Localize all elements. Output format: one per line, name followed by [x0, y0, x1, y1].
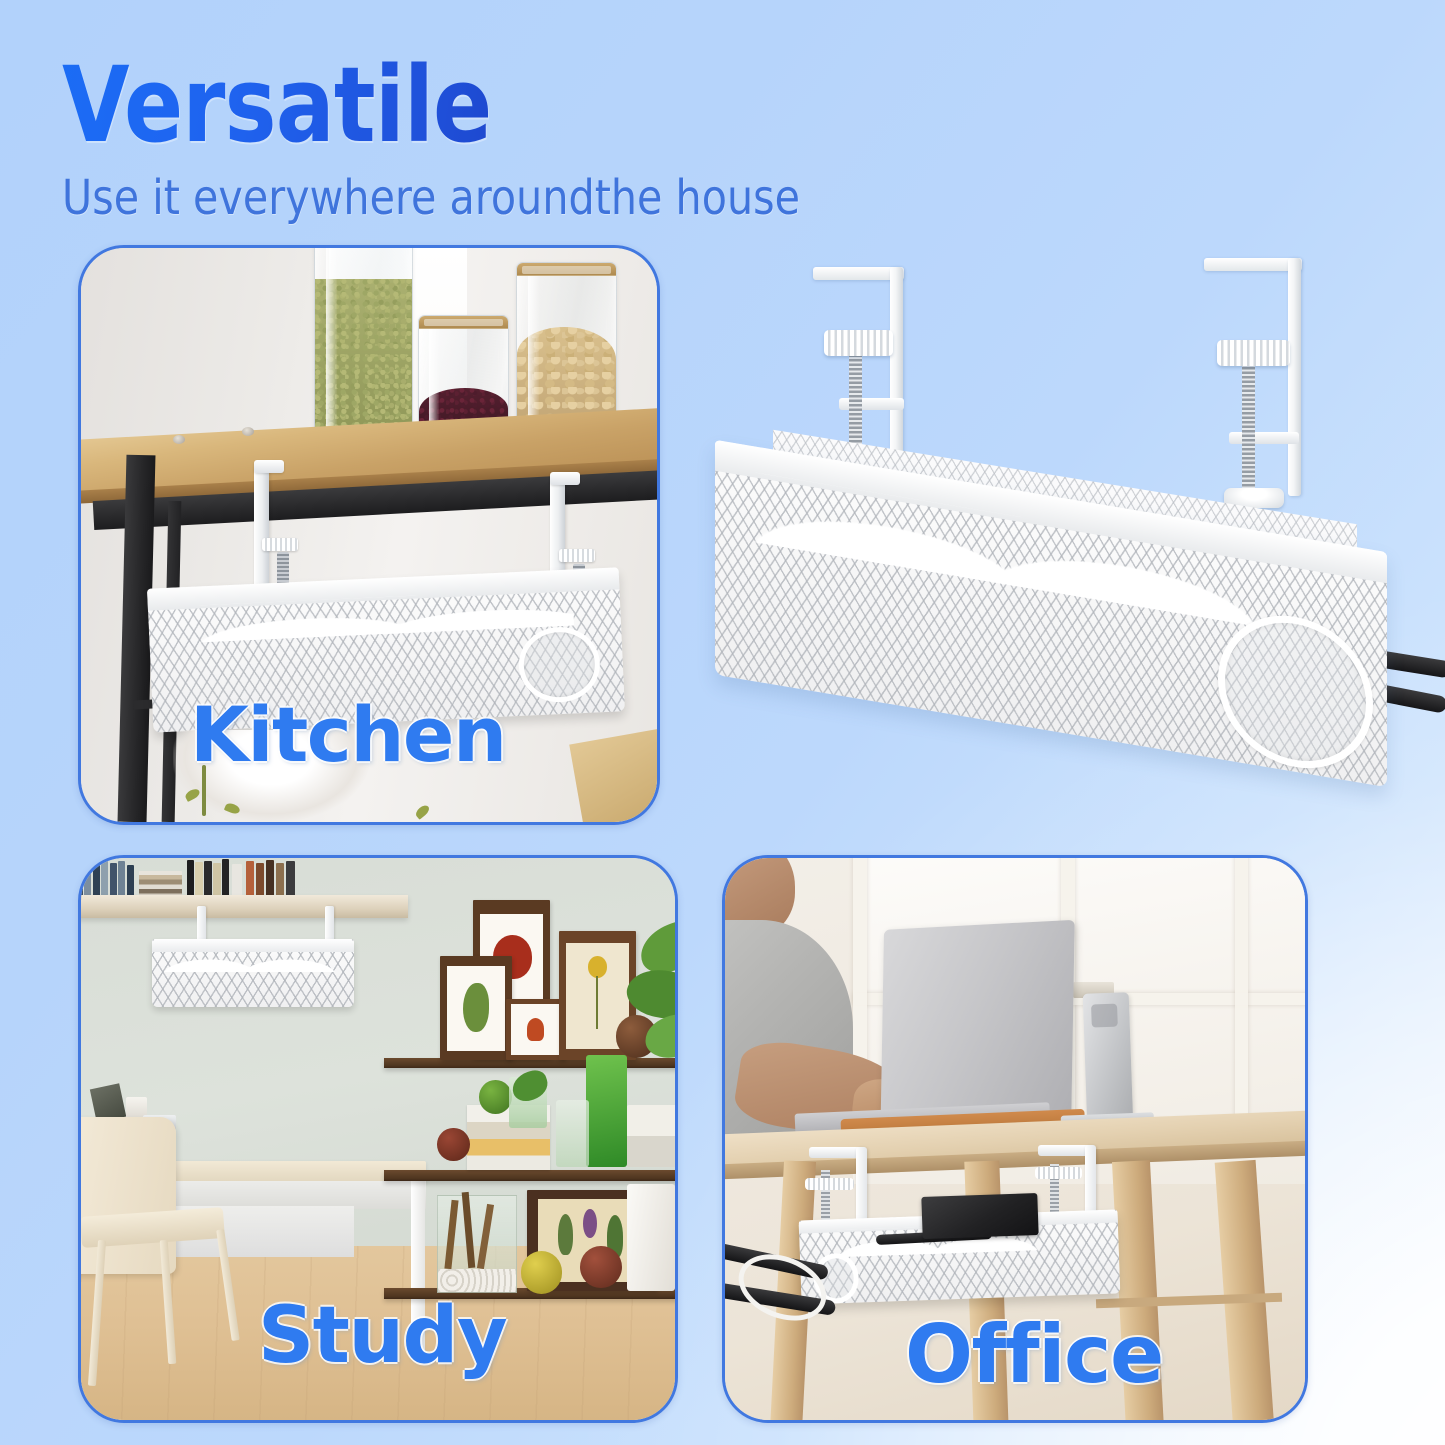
- jar-bamboo-lid: [418, 315, 509, 329]
- jar-glass-highlight: [326, 248, 337, 438]
- office-clamp-right-knob: [1035, 1167, 1081, 1179]
- artwork-sunflower-head: [588, 956, 607, 977]
- page-title: Versatile: [62, 52, 860, 158]
- terrarium-pebbles: [438, 1269, 515, 1292]
- glass-jar-peas: [314, 248, 413, 445]
- page-subtitle: Use it everywhere aroundthe house: [62, 172, 879, 225]
- artwork-stem: [596, 976, 599, 1029]
- framed-art-maple: [506, 999, 565, 1061]
- kitchen-clamp-left-knob: [262, 538, 298, 551]
- marketing-infographic: Versatile Use it everywhere aroundthe ho…: [0, 0, 1445, 1445]
- artwork-purple-bloom: [583, 1209, 597, 1239]
- clamp-right-vertical: [1288, 258, 1301, 496]
- study-basket-wave-profile: [164, 949, 338, 972]
- kitchen-clamp-right-hook: [550, 472, 580, 485]
- clamp-right-thumb-knob: [1217, 340, 1290, 366]
- window-mullion-right: [1235, 858, 1248, 1150]
- frame-mat: [511, 1004, 560, 1055]
- kitchen-lower-shelf: [570, 729, 657, 822]
- framed-art-fern: [440, 956, 511, 1060]
- kitchen-clamp-left-arm: [254, 466, 269, 592]
- artwork-green-leaf: [463, 983, 489, 1032]
- clamp-right-mid-arm: [1229, 432, 1298, 444]
- phone-camera-module: [1091, 1003, 1118, 1027]
- office-power-adapter: [921, 1193, 1038, 1239]
- frame-mat: [447, 966, 505, 1051]
- kitchen-clamp-right-knob: [559, 549, 595, 562]
- tabletop-screw: [173, 435, 185, 444]
- artwork-orange-leaf: [527, 1018, 545, 1040]
- office-clamp-left-knob: [805, 1178, 854, 1190]
- smartphone: [1082, 992, 1133, 1128]
- pebble-vase: [627, 1105, 675, 1167]
- hero-product-image: [700, 250, 1430, 810]
- decor-green-ball: [479, 1080, 512, 1114]
- driftwood-branch: [461, 1192, 475, 1269]
- panel-label-kitchen: Kitchen: [190, 690, 506, 779]
- headline-block: Versatile Use it everywhere aroundthe ho…: [62, 52, 1012, 225]
- study-wall-shelf: [81, 895, 408, 919]
- panel-label-office: Office: [905, 1308, 1163, 1401]
- panel-label-study: Study: [258, 1291, 506, 1381]
- driftwood-branch: [477, 1204, 494, 1269]
- artwork-sprig: [558, 1214, 573, 1255]
- kitchen-cable-exit-hole: [517, 626, 601, 704]
- study-display-shelf-middle: [384, 1170, 675, 1181]
- decor-red-ball: [580, 1246, 622, 1288]
- decor-yellow-ball: [521, 1251, 563, 1293]
- kitchen-clamp-left-hook: [254, 460, 284, 473]
- clamp-left-thumb-knob: [824, 330, 893, 356]
- driftwood-terrarium: [437, 1195, 516, 1293]
- jar-bamboo-lid: [516, 262, 617, 276]
- cable-exit-hole: [1218, 604, 1373, 780]
- study-mesh-basket: [152, 939, 354, 1006]
- driftwood-branch: [444, 1200, 458, 1269]
- green-glass-vase: [586, 1055, 628, 1167]
- clamp-left-vertical: [890, 267, 903, 460]
- white-cylinder-vase: [627, 1184, 675, 1291]
- clear-glass-vase: [556, 1100, 589, 1167]
